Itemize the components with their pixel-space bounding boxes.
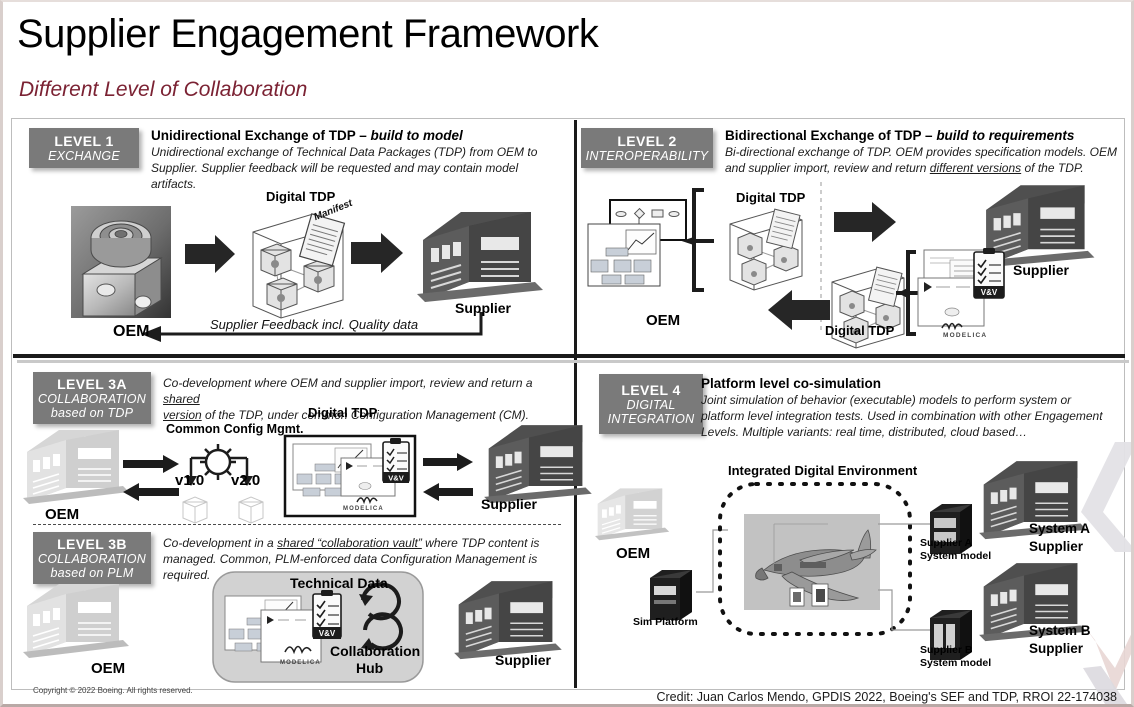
horizontal-divider-shadow xyxy=(17,360,1129,363)
level-3a-body-line-2-underline: version xyxy=(163,408,202,422)
level-4-badge[interactable]: LEVEL 4 DIGITAL INTEGRATION xyxy=(599,374,703,434)
level-1-oem-label: OEM xyxy=(113,323,149,341)
level-2-badge-title: LEVEL 2 xyxy=(617,133,676,149)
level-3b-technical-data-label: Technical Data xyxy=(290,575,388,591)
copyright-footer: Copyright © 2022 Boeing. All rights rese… xyxy=(33,686,193,695)
vertical-divider xyxy=(574,120,577,688)
svg-text:V&V: V&V xyxy=(388,474,403,483)
level-4-supplier-a-line-2: System model xyxy=(920,550,991,563)
level-2-body: Bi-directional exchange of TDP. OEM prov… xyxy=(725,145,1125,177)
level-2-oem-label: OEM xyxy=(646,312,680,329)
level-4-system-a-line-1: System A xyxy=(1029,520,1090,538)
level-3a-common-config-label: Common Config Mgmt. xyxy=(166,422,303,436)
level-4-body-line-1: Joint simulation of behavior (executable… xyxy=(701,393,1111,409)
level-2-body-line-2: and supplier import, review and return d… xyxy=(725,161,1125,177)
level-3a-modelica-label: MODELICA xyxy=(343,506,384,512)
level-2-badge[interactable]: LEVEL 2 INTEROPERABILITY xyxy=(581,128,713,168)
level-2-heading: Bidirectional Exchange of TDP – build to… xyxy=(725,128,1074,143)
level-2-body-line-1: Bi-directional exchange of TDP. OEM prov… xyxy=(725,145,1125,161)
level-4-heading: Platform level co-simulation xyxy=(701,376,881,391)
level-3b-collab-hub-line-1: Collaboration xyxy=(330,643,420,659)
level-3a-supplier-label: Supplier xyxy=(481,496,537,512)
level-4-oem-label: OEM xyxy=(616,545,650,562)
level-4-supplier-b-line-2: System model xyxy=(920,657,991,670)
level-4-supplier-a-label: Supplier A System model xyxy=(920,537,991,563)
level-3a-digital-tdp-label: Digital TDP xyxy=(308,405,377,420)
level-2-heading-plain: Bidirectional Exchange of TDP – xyxy=(725,128,936,143)
level-3b-body-line-1b: where TDP content is xyxy=(422,536,540,550)
level-4-badge-subtitle-2: INTEGRATION xyxy=(608,412,695,426)
level-4-system-b-label: System B Supplier xyxy=(1029,622,1091,657)
level-3a-badge[interactable]: LEVEL 3A COLLABORATION based on TDP xyxy=(33,372,151,424)
level-3a-badge-subtitle-2: based on TDP xyxy=(51,406,133,420)
level-4-body-line-2: platform level integration tests. Used i… xyxy=(701,409,1111,425)
level-3b-oem-label: OEM xyxy=(91,660,125,677)
level-3b-badge-title: LEVEL 3B xyxy=(57,536,127,552)
level-4-sim-platform-label: Sim Platform xyxy=(633,616,698,629)
level-3b-supplier-label: Supplier xyxy=(495,652,551,668)
level-4-system-a-line-2: Supplier xyxy=(1029,538,1090,556)
level-4-supplier-b-line-1: Supplier B xyxy=(920,644,991,657)
level-1-badge-title: LEVEL 1 xyxy=(54,133,113,149)
level-4-integrated-env-label: Integrated Digital Environment xyxy=(728,463,917,478)
level-1-digital-tdp-label: Digital TDP xyxy=(266,189,335,204)
level-4-system-b-line-1: System B xyxy=(1029,622,1091,640)
level-4-body: Joint simulation of behavior (executable… xyxy=(701,393,1111,440)
level-3b-modelica-label: MODELICA xyxy=(280,660,321,666)
level-2-modelica-label: MODELICA xyxy=(943,332,987,339)
page-subtitle: Different Level of Collaboration xyxy=(19,78,307,102)
level-3a-v1-label: v1.0 xyxy=(175,472,204,489)
level-2-heading-italic: build to requirements xyxy=(936,128,1074,143)
level-1-heading: Unidirectional Exchange of TDP – build t… xyxy=(151,128,463,143)
level-1-heading-italic: build to model xyxy=(371,128,463,143)
level-1-body-line-1: Unidirectional exchange of Technical Dat… xyxy=(151,145,563,161)
level-3a-body-line-1: Co-development where OEM and supplier im… xyxy=(163,376,563,408)
level-3a-body-line-1a: Co-development where OEM and supplier im… xyxy=(163,376,533,390)
level-1-badge[interactable]: LEVEL 1 EXCHANGE xyxy=(29,128,139,168)
level-4-system-a-label: System A Supplier xyxy=(1029,520,1090,555)
level-2-body-line-2a: and supplier import, review and return xyxy=(725,161,930,175)
level-3a-oem-label: OEM xyxy=(45,506,79,523)
dashed-divider-3a-3b xyxy=(33,524,561,525)
level-3a-badge-subtitle-1: COLLABORATION xyxy=(38,392,146,406)
level-2-digital-tdp-top-label: Digital TDP xyxy=(736,190,805,205)
level-3b-body-line-1a: Co-development in a xyxy=(163,536,277,550)
level-3a-badge-title: LEVEL 3A xyxy=(57,376,127,392)
level-1-supplier-label: Supplier xyxy=(455,300,511,316)
svg-text:V&V: V&V xyxy=(981,288,998,297)
level-3b-body-line-1-underline: shared “collaboration vault” xyxy=(277,536,422,550)
svg-text:V&V: V&V xyxy=(319,629,336,638)
level-3b-body-line-1: Co-development in a shared “collaboratio… xyxy=(163,536,568,552)
level-2-body-line-2-underline: different versions xyxy=(930,161,1021,175)
level-3a-v2-label: v2.0 xyxy=(231,472,260,489)
level-3a-body-line-1-underline: shared xyxy=(163,392,200,406)
level-2-supplier-label: Supplier xyxy=(1013,262,1069,278)
level-3b-collab-hub-line-2: Hub xyxy=(356,660,383,676)
level-4-supplier-a-line-1: Supplier A xyxy=(920,537,991,550)
level-4-badge-subtitle-1: DIGITAL xyxy=(626,398,675,412)
level-4-supplier-b-label: Supplier B System model xyxy=(920,644,991,670)
level-4-system-b-line-2: Supplier xyxy=(1029,640,1091,658)
level-1-heading-plain: Unidirectional Exchange of TDP – xyxy=(151,128,371,143)
slide-canvas: Supplier Engagement Framework Different … xyxy=(0,0,1134,707)
page-title: Supplier Engagement Framework xyxy=(17,12,598,57)
level-3b-badge-subtitle-1: COLLABORATION xyxy=(38,552,146,566)
level-2-digital-tdp-bottom-label: Digital TDP xyxy=(825,323,894,338)
level-2-body-line-2b: of the TDP. xyxy=(1021,161,1083,175)
level-1-badge-subtitle: EXCHANGE xyxy=(48,149,120,163)
level-1-feedback-label: Supplier Feedback incl. Quality data xyxy=(210,317,418,332)
level-2-badge-subtitle: INTEROPERABILITY xyxy=(586,149,709,163)
credit-footer: Credit: Juan Carlos Mendo, GPDIS 2022, B… xyxy=(656,690,1117,704)
level-4-body-line-3: Levels. Multiple variants: real time, di… xyxy=(701,425,1111,441)
level-4-badge-title: LEVEL 4 xyxy=(621,382,680,398)
